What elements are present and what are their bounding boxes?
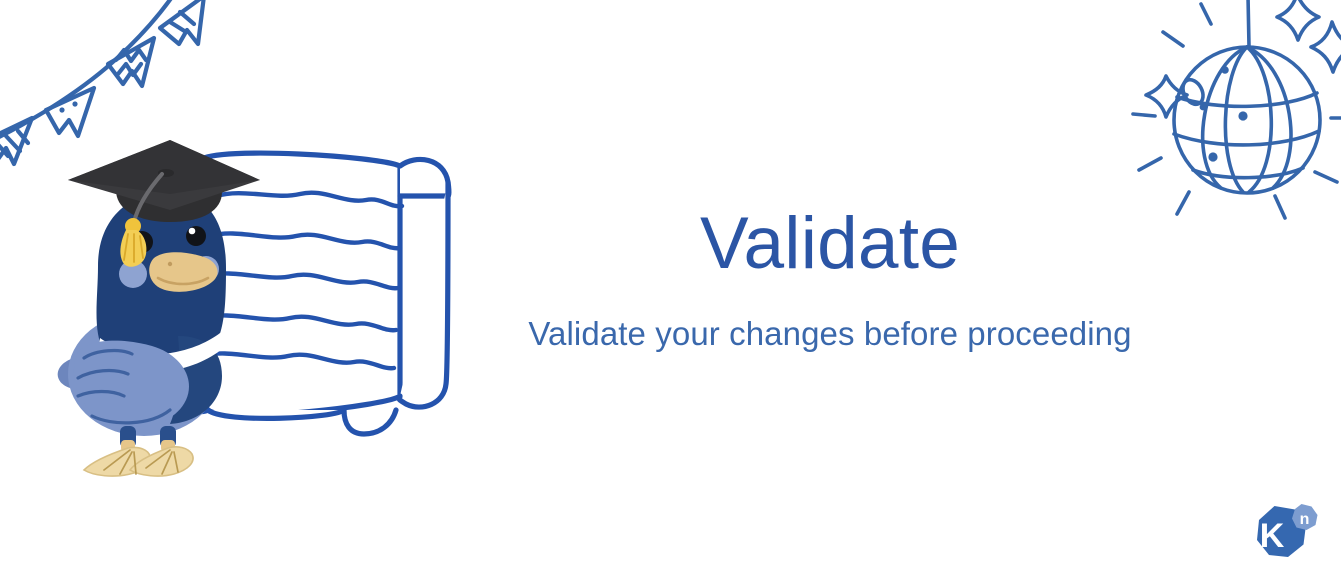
disco-ball-icon bbox=[1125, 0, 1341, 229]
slide-canvas: Validate Validate your changes before pr… bbox=[0, 0, 1341, 585]
page-title: Validate bbox=[470, 205, 1190, 284]
graduate-bird-with-scroll-illustration bbox=[48, 138, 468, 478]
hero-text-block: Validate Validate your changes before pr… bbox=[470, 205, 1190, 353]
page-subtitle: Validate your changes before proceeding bbox=[470, 314, 1190, 354]
logo-letter-k: K bbox=[1260, 517, 1285, 555]
logo-letter-n: n bbox=[1300, 511, 1310, 528]
killercoda-logo[interactable]: K n bbox=[1248, 503, 1322, 571]
